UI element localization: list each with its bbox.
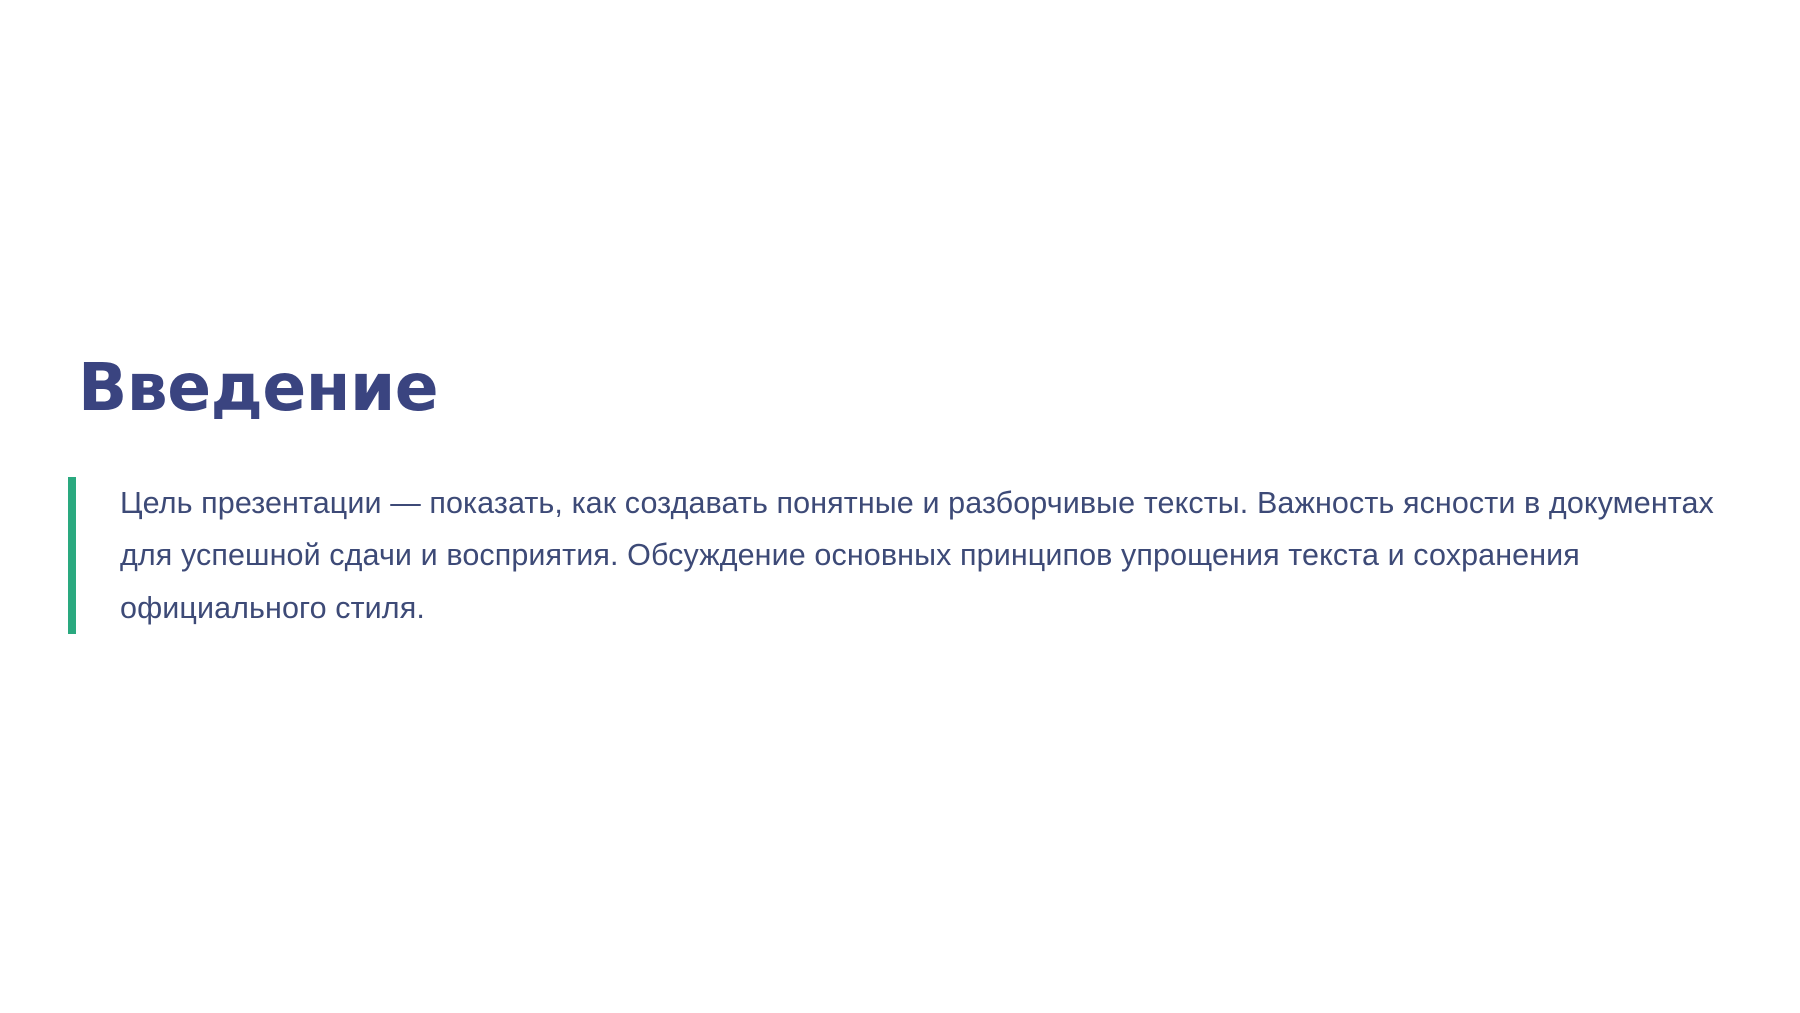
accent-bar bbox=[68, 477, 76, 634]
presentation-slide: Введение Цель презентации — показать, ка… bbox=[0, 0, 1800, 1013]
slide-body-text: Цель презентации — показать, как создава… bbox=[76, 477, 1732, 634]
page-title: Введение bbox=[78, 355, 1699, 421]
slide-content-block: Введение Цель презентации — показать, ка… bbox=[68, 355, 1732, 634]
body-paragraph-row: Цель презентации — показать, как создава… bbox=[68, 477, 1732, 634]
